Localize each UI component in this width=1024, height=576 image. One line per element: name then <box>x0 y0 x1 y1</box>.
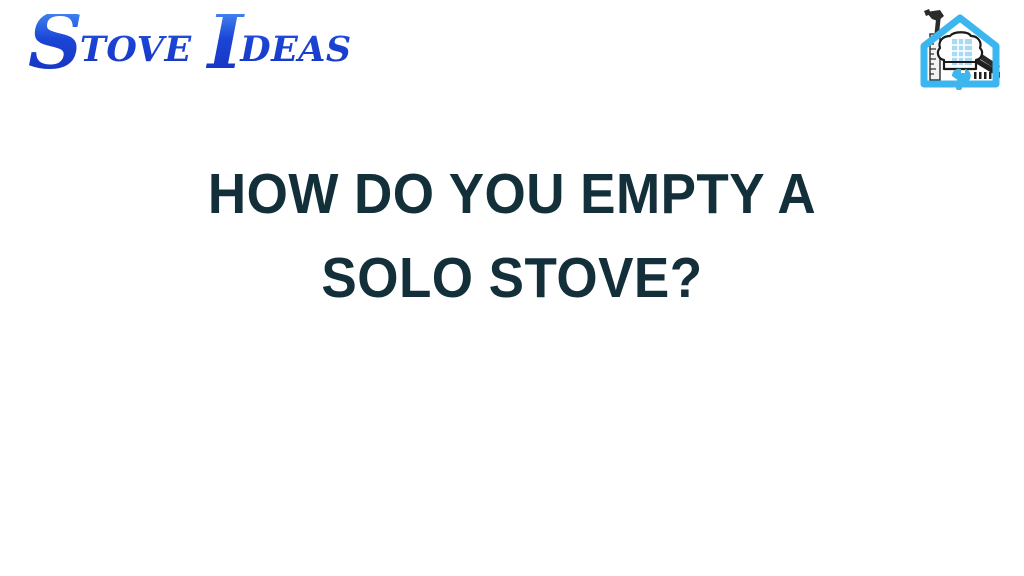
site-header: StoveIdeas <box>0 0 1024 110</box>
brand-logo-word-stove: tove <box>80 14 192 73</box>
page-title-line-2: SOLO STOVE? <box>36 236 988 320</box>
page-title: HOW DO YOU EMPTY A SOLO STOVE? <box>0 152 1024 320</box>
house-with-tools-icon <box>914 6 1006 98</box>
brand-logo[interactable]: StoveIdeas <box>28 14 352 70</box>
main-content: HOW DO YOU EMPTY A SOLO STOVE? <box>0 152 1024 320</box>
brand-logo-initial-s: S <box>28 0 80 86</box>
page-root: StoveIdeas <box>0 0 1024 576</box>
chef-hat-icon <box>938 32 982 69</box>
brand-logo-initial-i: I <box>208 0 241 86</box>
brand-logo-word-ideas: deas <box>240 14 351 73</box>
page-title-line-1: HOW DO YOU EMPTY A <box>36 152 988 236</box>
